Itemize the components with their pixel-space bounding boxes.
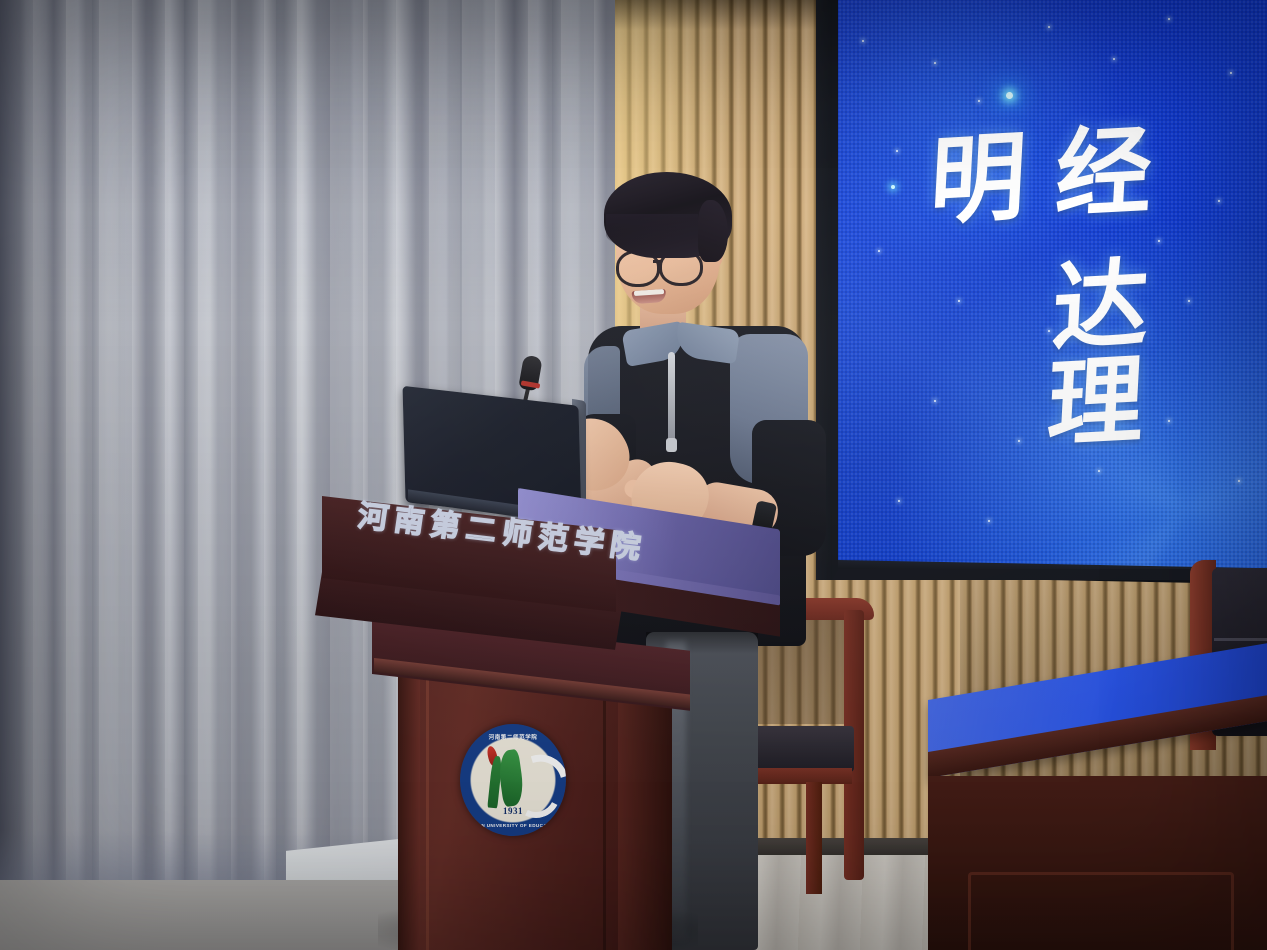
lectern: 河南第二师范学院 1931 HENAN UNIVERSITY OF EDUCAT…: [322, 488, 778, 950]
photo-scene: 明经 达理: [0, 0, 1267, 950]
university-seal: 河南第二师范学院 1931 HENAN UNIVERSITY OF EDUCAT…: [460, 724, 566, 836]
lectern-glyph-3: 第: [428, 510, 462, 543]
bright-star-secondary: [891, 185, 895, 189]
lectern-body-right-edge: [618, 666, 672, 950]
screen-calligraphy-line-1: 明经: [928, 122, 1158, 230]
seal-ring-text-bottom: HENAN UNIVERSITY OF EDUCATION: [460, 823, 566, 828]
seal-year: 1931: [460, 806, 566, 816]
screen-glyph-2: 经: [1053, 122, 1158, 224]
screen-glyph-1: 明: [928, 128, 1033, 230]
bright-star: [1006, 92, 1013, 99]
curtain-left-shadow: [0, 0, 46, 950]
presenter-hair-fringe: [606, 214, 698, 248]
screen-glyph-3: 达: [1050, 255, 1155, 357]
lectern-glyph-6: 范: [536, 523, 570, 556]
lectern-glyph-7: 学: [572, 527, 606, 560]
lectern-glyph-4: 二: [464, 514, 498, 547]
glasses-bridge: [653, 260, 661, 263]
shirt-zip-placket: [668, 352, 675, 444]
screen-calligraphy-line-2: 达理: [1045, 249, 1267, 453]
lectern-glyph-1: 河: [356, 502, 390, 535]
desk-chair-seam: [1214, 638, 1267, 641]
led-display: 明经 达理: [838, 0, 1267, 572]
lectern-glyph-2: 南: [392, 506, 426, 539]
lectern-glyph-8: 院: [608, 531, 642, 564]
side-desk: [928, 700, 1267, 950]
desk-panel-moulding: [968, 872, 1234, 950]
zip-pull: [666, 438, 677, 452]
seal-ring-text-top: 河南第二师范学院: [460, 733, 566, 741]
lectern-body-left-edge: [398, 664, 420, 950]
screen-glyph-4: 理: [1045, 351, 1150, 453]
lectern-glyph-5: 师: [500, 518, 534, 551]
